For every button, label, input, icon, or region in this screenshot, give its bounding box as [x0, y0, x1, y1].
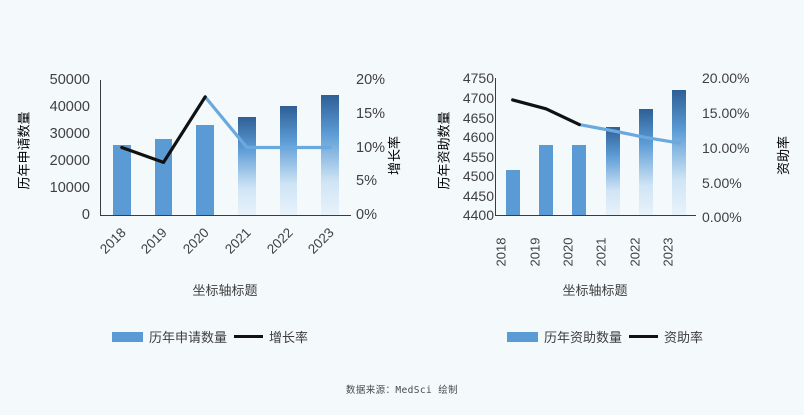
right-ytick-4450: 4450: [442, 188, 494, 204]
left-line-series: [101, 80, 351, 215]
right-legend-bar-swatch-icon: [507, 332, 538, 342]
right-ytick-4550: 4550: [442, 149, 494, 165]
right-legend-line-label: 资助率: [664, 327, 703, 346]
left-ytick-30000: 30000: [28, 126, 90, 142]
left-legend-line-label: 增长率: [269, 327, 308, 346]
line-segment: [579, 125, 679, 144]
right-y2tick-10: 10.00%: [702, 140, 749, 156]
right-y2tick-15: 15.00%: [702, 105, 749, 121]
x-tick-slot: 2018: [100, 222, 142, 268]
right-legend-item-bars[interactable]: 历年资助数量: [507, 327, 622, 346]
left-y2tick-10: 10%: [356, 140, 385, 156]
x-tick-slot: 2023: [308, 222, 350, 268]
left-y2-axis-title-label: 增长率: [384, 135, 403, 174]
right-y2-axis-title: 资助率: [770, 105, 794, 205]
left-ytick-50000: 50000: [28, 72, 90, 88]
x-tick-2019: 2019: [138, 225, 186, 273]
x-tick-slot: 2021: [595, 220, 628, 270]
left-y2tick-0: 0%: [356, 207, 377, 223]
figure-canvas: 历年申请数量 增长率 50000 40000 30000 20000 10000…: [0, 0, 804, 415]
right-legend-item-line[interactable]: 资助率: [629, 327, 703, 346]
right-ytick-4400: 4400: [442, 207, 494, 223]
x-tick-2018: 2018: [494, 238, 530, 267]
right-ytick-4700: 4700: [442, 90, 494, 106]
chart-applications: 历年申请数量 增长率 50000 40000 30000 20000 10000…: [0, 0, 402, 415]
right-y2-axis-title-label: 资助率: [773, 135, 792, 174]
left-ytick-40000: 40000: [28, 99, 90, 115]
right-ytick-4650: 4650: [442, 110, 494, 126]
right-legend: 历年资助数量 资助率: [507, 327, 703, 346]
left-y2tick-15: 15%: [356, 106, 385, 122]
x-tick-2020: 2020: [180, 225, 228, 273]
left-ytick-20000: 20000: [28, 153, 90, 169]
x-tick-2023: 2023: [660, 238, 696, 267]
right-y2tick-5: 5.00%: [702, 175, 742, 191]
x-tick-slot: 2023: [662, 220, 695, 270]
line-segment: [205, 97, 330, 148]
x-tick-slot: 2020: [562, 220, 595, 270]
right-ytick-4500: 4500: [442, 168, 494, 184]
left-y2tick-20: 20%: [356, 72, 385, 88]
right-x-tick-labels: 201820192020202120222023: [495, 220, 695, 270]
x-tick-2018: 2018: [97, 225, 145, 273]
x-tick-2021: 2021: [222, 225, 270, 273]
left-legend: 历年申请数量 增长率: [112, 327, 308, 346]
x-tick-2023: 2023: [305, 225, 353, 273]
x-tick-2021: 2021: [594, 238, 630, 267]
right-line-series: [496, 78, 696, 215]
left-ytick-10000: 10000: [28, 180, 90, 196]
chart-funding: 历年资助数量 资助率 4750 4700 4650 4600 4550 4500…: [402, 0, 804, 415]
line-segment: [122, 97, 205, 162]
x-tick-2022: 2022: [627, 238, 663, 267]
left-legend-line-swatch-icon: [234, 335, 263, 338]
right-legend-line-swatch-icon: [629, 335, 658, 338]
left-plot-area: [100, 80, 351, 216]
left-legend-bar-swatch-icon: [112, 332, 143, 342]
right-y2tick-20: 20.00%: [702, 70, 749, 86]
x-tick-2022: 2022: [263, 225, 311, 273]
right-y2tick-0: 0.00%: [702, 209, 742, 225]
x-tick-slot: 2018: [495, 220, 528, 270]
right-ytick-4750: 4750: [442, 70, 494, 86]
right-legend-bar-label: 历年资助数量: [544, 327, 622, 346]
left-x-axis-title: 坐标轴标题: [100, 280, 350, 299]
x-tick-slot: 2020: [183, 222, 225, 268]
left-legend-bar-label: 历年申请数量: [149, 327, 227, 346]
left-legend-item-bars[interactable]: 历年申请数量: [112, 327, 227, 346]
right-ytick-4600: 4600: [442, 129, 494, 145]
x-tick-slot: 2021: [225, 222, 267, 268]
line-segment: [513, 100, 580, 125]
left-y-axis-title-label: 历年申请数量: [14, 111, 33, 189]
left-x-tick-labels: 201820192020202120222023: [100, 222, 350, 268]
x-tick-slot: 2019: [142, 222, 184, 268]
right-plot-area: [495, 78, 696, 216]
left-y2tick-5: 5%: [356, 173, 377, 189]
x-tick-slot: 2022: [628, 220, 661, 270]
x-tick-slot: 2019: [528, 220, 561, 270]
x-tick-2019: 2019: [527, 238, 563, 267]
left-legend-item-line[interactable]: 增长率: [234, 327, 308, 346]
x-tick-2020: 2020: [560, 238, 596, 267]
x-tick-slot: 2022: [267, 222, 309, 268]
left-ytick-0: 0: [28, 207, 90, 223]
source-footer: 数据来源：MedSci 绘制: [0, 382, 804, 396]
right-x-axis-title: 坐标轴标题: [495, 280, 695, 299]
